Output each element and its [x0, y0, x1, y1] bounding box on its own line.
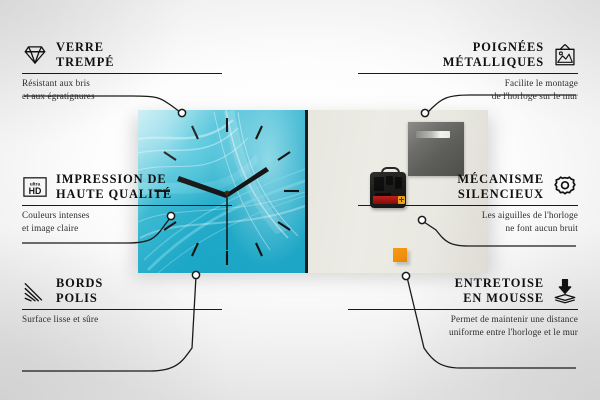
callout-title: MÉCANISME SILENCIEUX	[457, 172, 544, 202]
callout-title: BORDS POLIS	[56, 276, 103, 306]
callout-verre-trempe: VERRE TREMPÉ Résistant aux bris et aux é…	[22, 40, 222, 102]
foam-spacer-icon	[552, 278, 578, 304]
callout-divider	[348, 309, 578, 310]
callout-title: ENTRETOISE EN MOUSSE	[455, 276, 544, 306]
callout-subtitle: Résistant aux bris et aux égratignures	[22, 77, 222, 102]
callout-bords-polis: BORDS POLIS Surface lisse et sûre	[22, 276, 222, 326]
callout-subtitle: Couleurs intenses et image claire	[22, 209, 232, 234]
callout-impression-haute-qualite: ultra HD IMPRESSION DE HAUTE QUALITÉ Cou…	[22, 172, 232, 234]
polished-edges-icon	[22, 278, 48, 304]
callout-divider	[22, 205, 232, 206]
callout-divider	[22, 309, 222, 310]
callout-divider	[22, 73, 222, 74]
infographic-canvas: VERRE TREMPÉ Résistant aux bris et aux é…	[0, 0, 600, 400]
diamond-icon	[22, 42, 48, 68]
callout-title: VERRE TREMPÉ	[56, 40, 114, 70]
callout-subtitle: Surface lisse et sûre	[22, 313, 222, 325]
callout-divider	[358, 205, 578, 206]
callout-divider	[358, 73, 578, 74]
callout-mecanisme-silencieux: MÉCANISME SILENCIEUX Les aiguilles de l'…	[358, 172, 578, 234]
picture-hanger-icon	[552, 42, 578, 68]
callout-title: IMPRESSION DE HAUTE QUALITÉ	[56, 172, 172, 202]
callout-entretoise-en-mousse: ENTRETOISE EN MOUSSE Permet de maintenir…	[348, 276, 578, 338]
callout-poignees-metalliques: POIGNÉES MÉTALLIQUES Facilite le montage…	[358, 40, 578, 102]
callout-title: POIGNÉES MÉTALLIQUES	[443, 40, 544, 70]
metal-hanger-plate	[408, 122, 464, 176]
hanger-slot	[416, 131, 450, 138]
callout-subtitle: Permet de maintenir une distance uniform…	[348, 313, 578, 338]
ultra-hd-icon: ultra HD	[22, 174, 48, 200]
ultra-hd-icon-bottom-text: HD	[29, 186, 42, 196]
callout-subtitle: Les aiguilles de l'horloge ne font aucun…	[358, 209, 578, 234]
gear-icon	[552, 174, 578, 200]
foam-spacer	[393, 248, 407, 262]
callout-subtitle: Facilite le montage de l'horloge sur le …	[358, 77, 578, 102]
